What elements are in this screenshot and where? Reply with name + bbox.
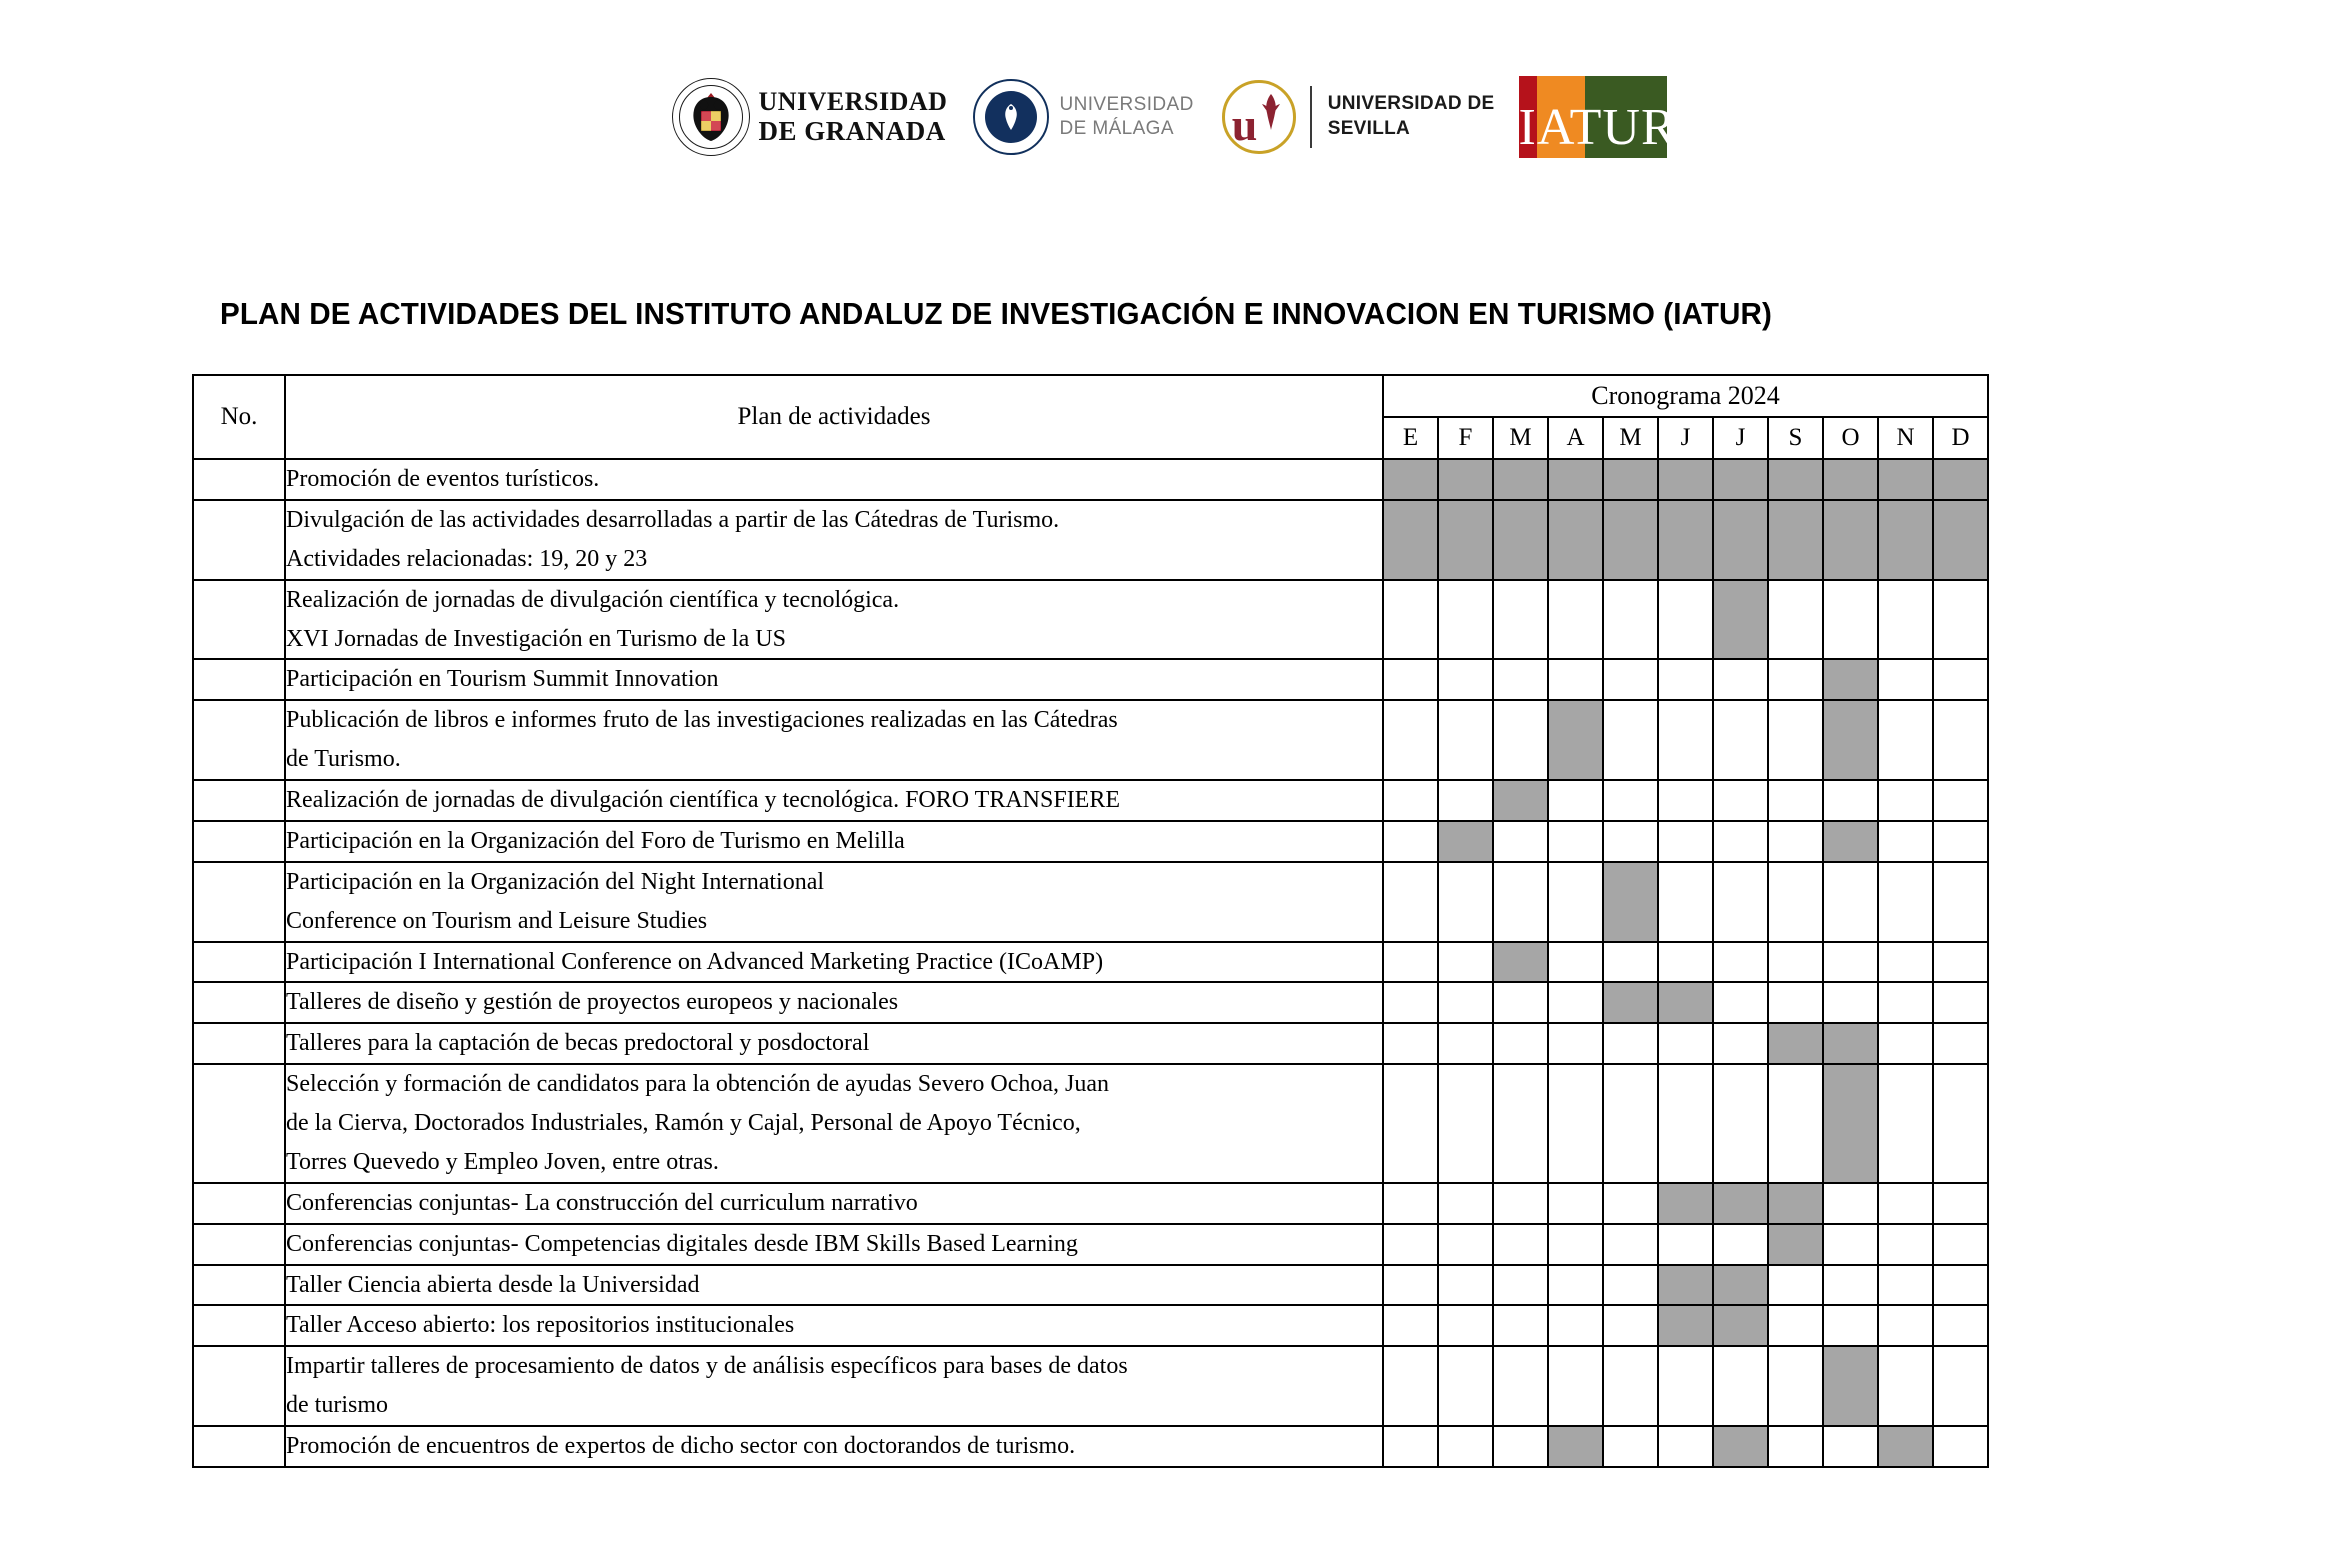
sevilla-seal-icon: u <box>1222 80 1296 154</box>
sevilla-wordmark: UNIVERSIDAD DE SEVILLA <box>1328 92 1495 141</box>
cell-month-4 <box>1603 942 1658 983</box>
cell-no <box>193 1426 285 1467</box>
cell-month-3-shaded <box>1548 700 1603 780</box>
cell-month-9 <box>1878 982 1933 1023</box>
header-month-10: D <box>1933 417 1988 459</box>
cell-no <box>193 821 285 862</box>
cell-month-4-shaded <box>1603 459 1658 500</box>
cell-month-0 <box>1383 580 1438 660</box>
cell-month-0 <box>1383 942 1438 983</box>
header-month-8: O <box>1823 417 1878 459</box>
cell-month-5 <box>1658 580 1713 660</box>
header-plan-de-actividades: Plan de actividades <box>285 375 1383 459</box>
cell-month-10 <box>1933 862 1988 942</box>
cell-month-1-shaded <box>1438 459 1493 500</box>
cell-month-1 <box>1438 942 1493 983</box>
cell-month-6-shaded <box>1713 1426 1768 1467</box>
cell-month-1 <box>1438 1183 1493 1224</box>
cell-month-2 <box>1493 1346 1548 1426</box>
cell-month-2 <box>1493 1023 1548 1064</box>
cell-month-9-shaded <box>1878 459 1933 500</box>
cell-month-10 <box>1933 982 1988 1023</box>
cell-month-10 <box>1933 1023 1988 1064</box>
cell-month-7 <box>1768 1346 1823 1426</box>
cell-month-1 <box>1438 1346 1493 1426</box>
cell-month-3 <box>1548 1183 1603 1224</box>
cell-month-6 <box>1713 659 1768 700</box>
cell-month-7 <box>1768 821 1823 862</box>
cell-activity: Selección y formación de candidatos para… <box>285 1064 1383 1183</box>
malaga-wordmark-line1: UNIVERSIDAD <box>1059 93 1193 117</box>
cell-month-6-shaded <box>1713 1265 1768 1306</box>
granada-eagle-icon <box>686 89 736 145</box>
page-title: PLAN DE ACTIVIDADES DEL INSTITUTO ANDALU… <box>220 296 2054 332</box>
cell-month-0 <box>1383 1224 1438 1265</box>
activity-line: Promoción de eventos turísticos. <box>286 460 1382 499</box>
granada-wordmark: UNIVERSIDAD DE GRANADA <box>758 89 947 145</box>
header-month-2: M <box>1493 417 1548 459</box>
cell-month-10-shaded <box>1933 500 1988 580</box>
table-head: No. Plan de actividades Cronograma 2024 … <box>193 375 1988 459</box>
cell-no <box>193 500 285 580</box>
header-month-1: F <box>1438 417 1493 459</box>
cell-month-2-shaded <box>1493 780 1548 821</box>
table-row: Promoción de encuentros de expertos de d… <box>193 1426 1988 1467</box>
activity-line: Participación en Tourism Summit Innovati… <box>286 660 1382 699</box>
cell-month-1 <box>1438 1426 1493 1467</box>
cell-month-6 <box>1713 942 1768 983</box>
cell-month-4 <box>1603 1023 1658 1064</box>
cell-month-8 <box>1823 780 1878 821</box>
activity-line: Talleres para la captación de becas pred… <box>286 1024 1382 1063</box>
cell-month-9 <box>1878 942 1933 983</box>
cell-month-1 <box>1438 982 1493 1023</box>
cell-month-7 <box>1768 659 1823 700</box>
sevilla-crest-icon <box>1258 92 1284 132</box>
sevilla-wordmark-line2: SEVILLA <box>1328 117 1495 142</box>
cell-activity: Participación I International Conference… <box>285 942 1383 983</box>
malaga-bird-icon <box>998 102 1024 132</box>
cell-activity: Participación en la Organización del Nig… <box>285 862 1383 942</box>
cell-month-3 <box>1548 942 1603 983</box>
table-row: Conferencias conjuntas- Competencias dig… <box>193 1224 1988 1265</box>
cell-month-8 <box>1823 1305 1878 1346</box>
table-row: Publicación de libros e informes fruto d… <box>193 700 1988 780</box>
cell-month-2 <box>1493 821 1548 862</box>
cell-month-3 <box>1548 659 1603 700</box>
activity-line: Realización de jornadas de divulgación c… <box>286 581 1382 620</box>
cell-month-5-shaded <box>1658 459 1713 500</box>
cell-month-1-shaded <box>1438 500 1493 580</box>
cell-month-8 <box>1823 1224 1878 1265</box>
cell-month-9 <box>1878 1183 1933 1224</box>
cell-month-6 <box>1713 982 1768 1023</box>
cell-month-7 <box>1768 942 1823 983</box>
cell-month-0 <box>1383 780 1438 821</box>
cell-month-6 <box>1713 862 1768 942</box>
cell-month-2-shaded <box>1493 942 1548 983</box>
cell-activity: Taller Acceso abierto: los repositorios … <box>285 1305 1383 1346</box>
cell-month-8-shaded <box>1823 1064 1878 1183</box>
activity-line: Participación I International Conference… <box>286 943 1382 982</box>
table-row: Participación en la Organización del For… <box>193 821 1988 862</box>
cell-month-6-shaded <box>1713 1305 1768 1346</box>
cell-month-4 <box>1603 1183 1658 1224</box>
cell-month-8-shaded <box>1823 659 1878 700</box>
malaga-wordmark-line2: DE MÁLAGA <box>1059 117 1193 141</box>
cell-month-5-shaded <box>1658 500 1713 580</box>
cell-activity: Conferencias conjuntas- La construcción … <box>285 1183 1383 1224</box>
cell-month-7 <box>1768 780 1823 821</box>
sevilla-divider <box>1310 86 1312 148</box>
cell-activity: Publicación de libros e informes fruto d… <box>285 700 1383 780</box>
table-row: Selección y formación de candidatos para… <box>193 1064 1988 1183</box>
cell-month-1 <box>1438 1224 1493 1265</box>
cell-no <box>193 1064 285 1183</box>
cell-activity: Impartir talleres de procesamiento de da… <box>285 1346 1383 1426</box>
cell-activity: Talleres para la captación de becas pred… <box>285 1023 1383 1064</box>
granada-wordmark-line2: DE GRANADA <box>758 118 947 145</box>
cell-month-8-shaded <box>1823 700 1878 780</box>
cell-month-2 <box>1493 862 1548 942</box>
header-no: No. <box>193 375 285 459</box>
cell-month-4 <box>1603 1224 1658 1265</box>
cell-month-6-shaded <box>1713 459 1768 500</box>
cell-month-9-shaded <box>1878 500 1933 580</box>
cell-month-8 <box>1823 982 1878 1023</box>
cell-month-8 <box>1823 580 1878 660</box>
cell-month-3 <box>1548 821 1603 862</box>
activity-line: Participación en la Organización del Nig… <box>286 863 1382 902</box>
cell-month-4-shaded <box>1603 982 1658 1023</box>
cell-month-2 <box>1493 982 1548 1023</box>
cell-month-9 <box>1878 1346 1933 1426</box>
cell-month-4 <box>1603 700 1658 780</box>
activity-line: Conference on Tourism and Leisure Studie… <box>286 902 1382 941</box>
cell-activity: Conferencias conjuntas- Competencias dig… <box>285 1224 1383 1265</box>
granada-wordmark-line1: UNIVERSIDAD <box>758 89 947 115</box>
activity-line: Conferencias conjuntas- La construcción … <box>286 1184 1382 1223</box>
header-month-0: E <box>1383 417 1438 459</box>
logo-universidad-de-malaga: UNIVERSIDAD DE MÁLAGA <box>947 67 1193 167</box>
cell-month-8 <box>1823 1265 1878 1306</box>
cell-month-2 <box>1493 659 1548 700</box>
cell-month-5-shaded <box>1658 982 1713 1023</box>
cell-month-9 <box>1878 580 1933 660</box>
cell-month-1-shaded <box>1438 821 1493 862</box>
table-row: Divulgación de las actividades desarroll… <box>193 500 1988 580</box>
cell-month-3 <box>1548 1305 1603 1346</box>
cell-month-7 <box>1768 1305 1823 1346</box>
cell-no <box>193 982 285 1023</box>
cell-month-1 <box>1438 580 1493 660</box>
cell-month-7 <box>1768 1426 1823 1467</box>
cell-month-0-shaded <box>1383 459 1438 500</box>
cell-month-2 <box>1493 1064 1548 1183</box>
cell-month-10 <box>1933 1183 1988 1224</box>
logo-universidad-de-sevilla: u UNIVERSIDAD DE SEVILLA <box>1194 67 1495 167</box>
cell-month-7-shaded <box>1768 500 1823 580</box>
cell-month-0 <box>1383 700 1438 780</box>
cell-month-9 <box>1878 1265 1933 1306</box>
cell-month-6 <box>1713 1346 1768 1426</box>
cell-no <box>193 1183 285 1224</box>
cell-month-10 <box>1933 580 1988 660</box>
cell-month-6 <box>1713 700 1768 780</box>
cell-month-10 <box>1933 1064 1988 1183</box>
cell-month-1 <box>1438 1023 1493 1064</box>
cell-month-1 <box>1438 659 1493 700</box>
cell-month-1 <box>1438 780 1493 821</box>
cell-month-4 <box>1603 821 1658 862</box>
cell-month-10 <box>1933 1265 1988 1306</box>
cell-month-0 <box>1383 1305 1438 1346</box>
cell-month-0 <box>1383 1265 1438 1306</box>
cell-month-6 <box>1713 1224 1768 1265</box>
cell-month-3 <box>1548 1064 1603 1183</box>
activity-line: XVI Jornadas de Investigación en Turismo… <box>286 620 1382 659</box>
cell-month-3 <box>1548 1265 1603 1306</box>
activity-line: Impartir talleres de procesamiento de da… <box>286 1347 1382 1386</box>
activity-line: de la Cierva, Doctorados Industriales, R… <box>286 1104 1382 1143</box>
cell-month-5-shaded <box>1658 1305 1713 1346</box>
cell-month-1 <box>1438 862 1493 942</box>
cell-month-3-shaded <box>1548 500 1603 580</box>
cell-month-0-shaded <box>1383 500 1438 580</box>
cell-month-0 <box>1383 1064 1438 1183</box>
cell-month-10 <box>1933 1305 1988 1346</box>
cell-month-7 <box>1768 1064 1823 1183</box>
cell-no <box>193 700 285 780</box>
activity-line: de turismo <box>286 1386 1382 1425</box>
table-row: Conferencias conjuntas- La construcción … <box>193 1183 1988 1224</box>
cell-no <box>193 580 285 660</box>
cell-month-10 <box>1933 700 1988 780</box>
iatur-wordmark: IATUR <box>1519 102 1667 154</box>
plan-table-container: No. Plan de actividades Cronograma 2024 … <box>192 374 1942 1468</box>
activity-line: Conferencias conjuntas- Competencias dig… <box>286 1225 1382 1264</box>
cell-month-6 <box>1713 1023 1768 1064</box>
cell-month-4-shaded <box>1603 862 1658 942</box>
cell-activity: Promoción de encuentros de expertos de d… <box>285 1426 1383 1467</box>
cell-month-0 <box>1383 1023 1438 1064</box>
table-header-row-1: No. Plan de actividades Cronograma 2024 <box>193 375 1988 417</box>
cell-month-3-shaded <box>1548 459 1603 500</box>
cell-month-7-shaded <box>1768 1224 1823 1265</box>
cell-month-1 <box>1438 1305 1493 1346</box>
cell-month-4 <box>1603 1305 1658 1346</box>
cell-month-8 <box>1823 862 1878 942</box>
cell-month-7-shaded <box>1768 1183 1823 1224</box>
cell-month-0 <box>1383 821 1438 862</box>
table-row: Promoción de eventos turísticos. <box>193 459 1988 500</box>
header-month-7: S <box>1768 417 1823 459</box>
cell-month-4 <box>1603 1426 1658 1467</box>
cell-month-5 <box>1658 862 1713 942</box>
cell-no <box>193 1346 285 1426</box>
cell-activity: Realización de jornadas de divulgación c… <box>285 580 1383 660</box>
cell-month-5 <box>1658 780 1713 821</box>
cell-month-8-shaded <box>1823 821 1878 862</box>
cell-month-1 <box>1438 1265 1493 1306</box>
cell-month-2 <box>1493 1305 1548 1346</box>
cell-month-8-shaded <box>1823 1023 1878 1064</box>
malaga-wordmark: UNIVERSIDAD DE MÁLAGA <box>1059 93 1193 141</box>
cell-month-9 <box>1878 821 1933 862</box>
cell-month-5 <box>1658 942 1713 983</box>
cell-month-3 <box>1548 780 1603 821</box>
cell-no <box>193 780 285 821</box>
cell-month-2 <box>1493 1224 1548 1265</box>
table-row: Participación I International Conference… <box>193 942 1988 983</box>
cell-month-9 <box>1878 700 1933 780</box>
cell-month-9 <box>1878 1023 1933 1064</box>
table-row: Impartir talleres de procesamiento de da… <box>193 1346 1988 1426</box>
header-cronograma: Cronograma 2024 <box>1383 375 1988 417</box>
malaga-seal-icon <box>973 79 1049 155</box>
activity-line: Realización de jornadas de divulgación c… <box>286 781 1382 820</box>
cell-month-7 <box>1768 862 1823 942</box>
cell-no <box>193 1265 285 1306</box>
logo-iatur: IATUR <box>1519 76 1667 158</box>
cell-month-2 <box>1493 1426 1548 1467</box>
institution-logo-bar: UNIVERSIDAD DE GRANADA UNIVERSIDAD DE MÁ… <box>0 62 2339 172</box>
cell-activity: Participación en Tourism Summit Innovati… <box>285 659 1383 700</box>
cell-activity: Participación en la Organización del For… <box>285 821 1383 862</box>
table-row: Talleres para la captación de becas pred… <box>193 1023 1988 1064</box>
cell-month-2 <box>1493 1183 1548 1224</box>
cell-month-3 <box>1548 1023 1603 1064</box>
cell-activity: Talleres de diseño y gestión de proyecto… <box>285 982 1383 1023</box>
cell-month-5 <box>1658 821 1713 862</box>
activity-line: Torres Quevedo y Empleo Joven, entre otr… <box>286 1143 1382 1182</box>
table-row: Participación en Tourism Summit Innovati… <box>193 659 1988 700</box>
cell-month-4 <box>1603 1064 1658 1183</box>
cell-no <box>193 459 285 500</box>
cell-month-5 <box>1658 700 1713 780</box>
cell-month-5 <box>1658 659 1713 700</box>
header-month-6: J <box>1713 417 1768 459</box>
cell-month-6-shaded <box>1713 580 1768 660</box>
cell-month-3 <box>1548 982 1603 1023</box>
cell-month-2 <box>1493 1265 1548 1306</box>
cell-activity: Realización de jornadas de divulgación c… <box>285 780 1383 821</box>
cell-month-9 <box>1878 1224 1933 1265</box>
cell-month-2 <box>1493 700 1548 780</box>
cell-month-6 <box>1713 821 1768 862</box>
header-month-4: M <box>1603 417 1658 459</box>
cell-month-2-shaded <box>1493 500 1548 580</box>
table-body: Promoción de eventos turísticos.Divulgac… <box>193 459 1988 1467</box>
cell-month-10-shaded <box>1933 459 1988 500</box>
cell-month-4 <box>1603 659 1658 700</box>
header-month-9: N <box>1878 417 1933 459</box>
cell-month-6 <box>1713 780 1768 821</box>
cell-no <box>193 862 285 942</box>
cell-month-0 <box>1383 659 1438 700</box>
sevilla-wordmark-line1: UNIVERSIDAD DE <box>1328 92 1495 117</box>
header-month-5: J <box>1658 417 1713 459</box>
plan-de-actividades-table: No. Plan de actividades Cronograma 2024 … <box>192 374 1989 1468</box>
cell-month-9 <box>1878 780 1933 821</box>
cell-month-4 <box>1603 1346 1658 1426</box>
cell-no <box>193 659 285 700</box>
cell-month-10 <box>1933 821 1988 862</box>
cell-month-0 <box>1383 982 1438 1023</box>
cell-month-5 <box>1658 1426 1713 1467</box>
cell-month-9 <box>1878 659 1933 700</box>
cell-month-3 <box>1548 1346 1603 1426</box>
cell-month-10 <box>1933 1224 1988 1265</box>
cell-month-10 <box>1933 659 1988 700</box>
logo-universidad-de-granada: UNIVERSIDAD DE GRANADA <box>672 67 947 167</box>
cell-month-8 <box>1823 942 1878 983</box>
cell-month-5 <box>1658 1346 1713 1426</box>
cell-month-10 <box>1933 942 1988 983</box>
cell-month-6-shaded <box>1713 500 1768 580</box>
cell-no <box>193 1305 285 1346</box>
activity-line: Divulgación de las actividades desarroll… <box>286 501 1382 540</box>
cell-month-1 <box>1438 1064 1493 1183</box>
activity-line: Talleres de diseño y gestión de proyecto… <box>286 983 1382 1022</box>
cell-month-2-shaded <box>1493 459 1548 500</box>
cell-month-9 <box>1878 862 1933 942</box>
cell-month-5 <box>1658 1224 1713 1265</box>
cell-month-0 <box>1383 1346 1438 1426</box>
cell-month-4 <box>1603 780 1658 821</box>
cell-month-1 <box>1438 700 1493 780</box>
cell-month-5-shaded <box>1658 1183 1713 1224</box>
cell-month-5 <box>1658 1064 1713 1183</box>
cell-no <box>193 1224 285 1265</box>
activity-line: Publicación de libros e informes fruto d… <box>286 701 1382 740</box>
cell-month-7 <box>1768 1265 1823 1306</box>
activity-line: Selección y formación de candidatos para… <box>286 1065 1382 1104</box>
cell-activity: Divulgación de las actividades desarroll… <box>285 500 1383 580</box>
cell-month-7-shaded <box>1768 1023 1823 1064</box>
cell-activity: Promoción de eventos turísticos. <box>285 459 1383 500</box>
activity-line: Participación en la Organización del For… <box>286 822 1382 861</box>
cell-month-10 <box>1933 780 1988 821</box>
cell-month-9 <box>1878 1305 1933 1346</box>
cell-month-7 <box>1768 700 1823 780</box>
cell-month-3 <box>1548 580 1603 660</box>
cell-no <box>193 1023 285 1064</box>
cell-month-9 <box>1878 1064 1933 1183</box>
activity-line: Taller Ciencia abierta desde la Universi… <box>286 1266 1382 1305</box>
activity-line: Promoción de encuentros de expertos de d… <box>286 1427 1382 1466</box>
cell-month-0 <box>1383 862 1438 942</box>
cell-month-4 <box>1603 580 1658 660</box>
cell-month-5-shaded <box>1658 1265 1713 1306</box>
cell-month-10 <box>1933 1426 1988 1467</box>
activity-line: Taller Acceso abierto: los repositorios … <box>286 1306 1382 1345</box>
cell-no <box>193 942 285 983</box>
activity-line: Actividades relacionadas: 19, 20 y 23 <box>286 540 1382 579</box>
cell-month-10 <box>1933 1346 1988 1426</box>
granada-seal-icon <box>672 78 750 156</box>
cell-month-3 <box>1548 862 1603 942</box>
cell-month-3 <box>1548 1224 1603 1265</box>
cell-month-3-shaded <box>1548 1426 1603 1467</box>
cell-month-9-shaded <box>1878 1426 1933 1467</box>
cell-month-8-shaded <box>1823 1346 1878 1426</box>
cell-month-8 <box>1823 1426 1878 1467</box>
cell-month-8-shaded <box>1823 500 1878 580</box>
cell-month-4-shaded <box>1603 500 1658 580</box>
cell-month-6-shaded <box>1713 1183 1768 1224</box>
table-row: Participación en la Organización del Nig… <box>193 862 1988 942</box>
